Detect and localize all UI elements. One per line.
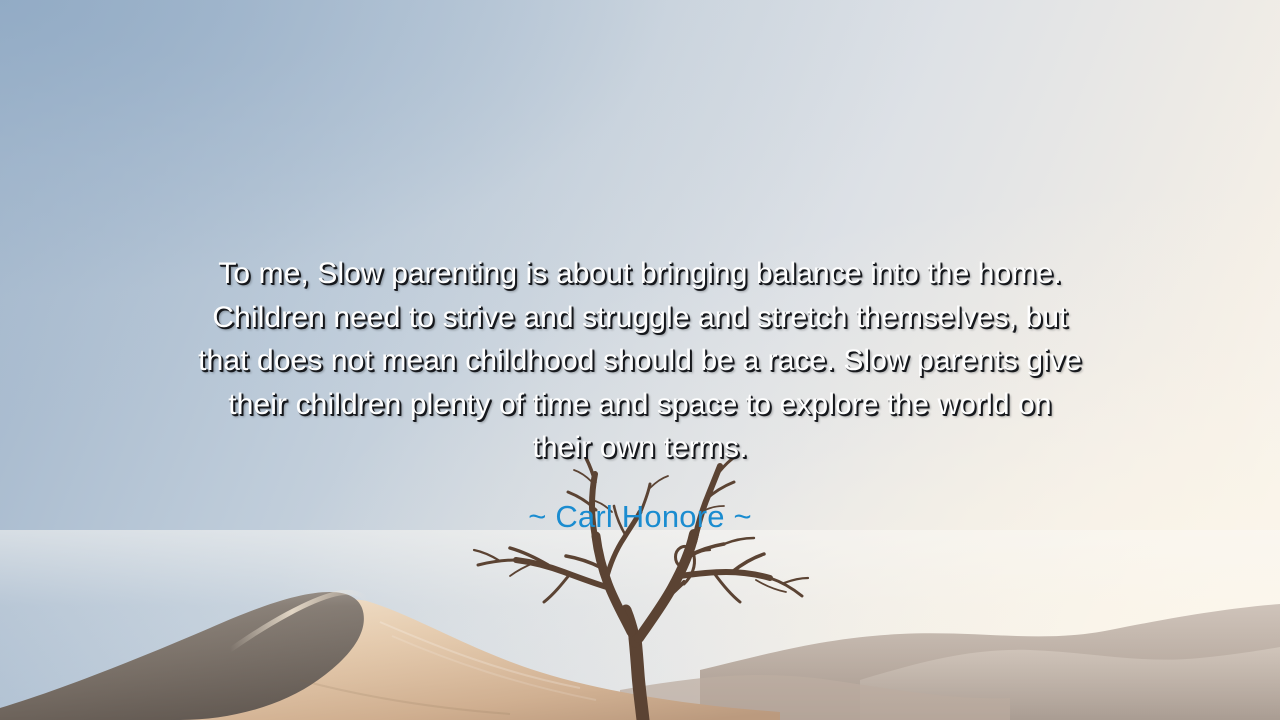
quote-line-2: Children need to strive and struggle and… [90,296,1190,340]
attribution-author-label: ~ Carl Honore ~ [190,498,1090,536]
quote-attribution: ~ Carl Honore ~ [190,498,1090,536]
quote-image-canvas: To me, Slow parenting is about bringing … [0,0,1280,720]
quote-line-1: To me, Slow parenting is about bringing … [90,252,1190,296]
quote-line-4: their children plenty of time and space … [90,383,1190,427]
quote-text: To me, Slow parenting is about bringing … [90,252,1190,470]
quote-line-5: their own terms. [90,426,1190,470]
dead-tree-silhouette [440,452,840,720]
quote-line-3: that does not mean childhood should be a… [90,339,1190,383]
